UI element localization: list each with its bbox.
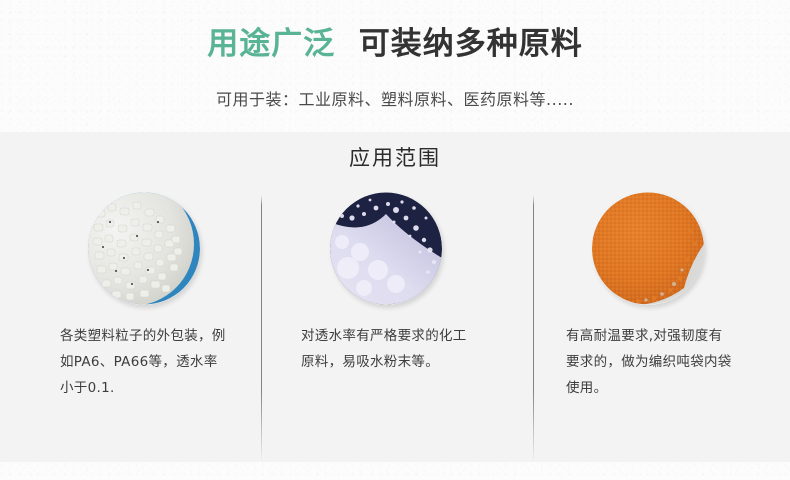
page-subtitle: 可用于装：工业原料、塑料原料、医药原料等..... — [0, 86, 790, 110]
column-caption: 各类塑料粒子的外包装，例如PA6、PA66等，透水率小于0.1. — [60, 323, 226, 401]
white-plastic-pellets-photo — [88, 192, 200, 305]
page-title: 用途广泛 可装纳多种原料 — [0, 18, 790, 63]
promo-page: 用途广泛 可装纳多种原料 可用于装：工业原料、塑料原料、医药原料等..... 应… — [0, 0, 790, 480]
white-chemical-powder-photo — [330, 192, 442, 305]
page-title-main: 可装纳多种原料 — [359, 26, 583, 62]
orange-granules-photo — [592, 192, 704, 305]
column-caption: 有高耐温要求,对强韧度有要求的，做为编织吨袋内袋使用。 — [566, 323, 734, 401]
application-column: 有高耐温要求,对强韧度有要求的，做为编织吨袋内袋使用。 — [522, 185, 772, 460]
application-columns: 各类塑料粒子的外包装，例如PA6、PA66等，透水率小于0.1. — [0, 185, 790, 460]
section-heading: 应用范围 — [0, 142, 790, 172]
page-title-accent: 用途广泛 — [207, 26, 335, 62]
bottom-texture-band — [0, 462, 790, 480]
column-caption: 对透水率有严格要求的化工原料，易吸水粉末等。 — [301, 323, 471, 375]
application-column: 各类塑料粒子的外包装，例如PA6、PA66等，透水率小于0.1. — [18, 185, 268, 460]
application-column: 对透水率有严格要求的化工原料，易吸水粉末等。 — [268, 185, 518, 460]
